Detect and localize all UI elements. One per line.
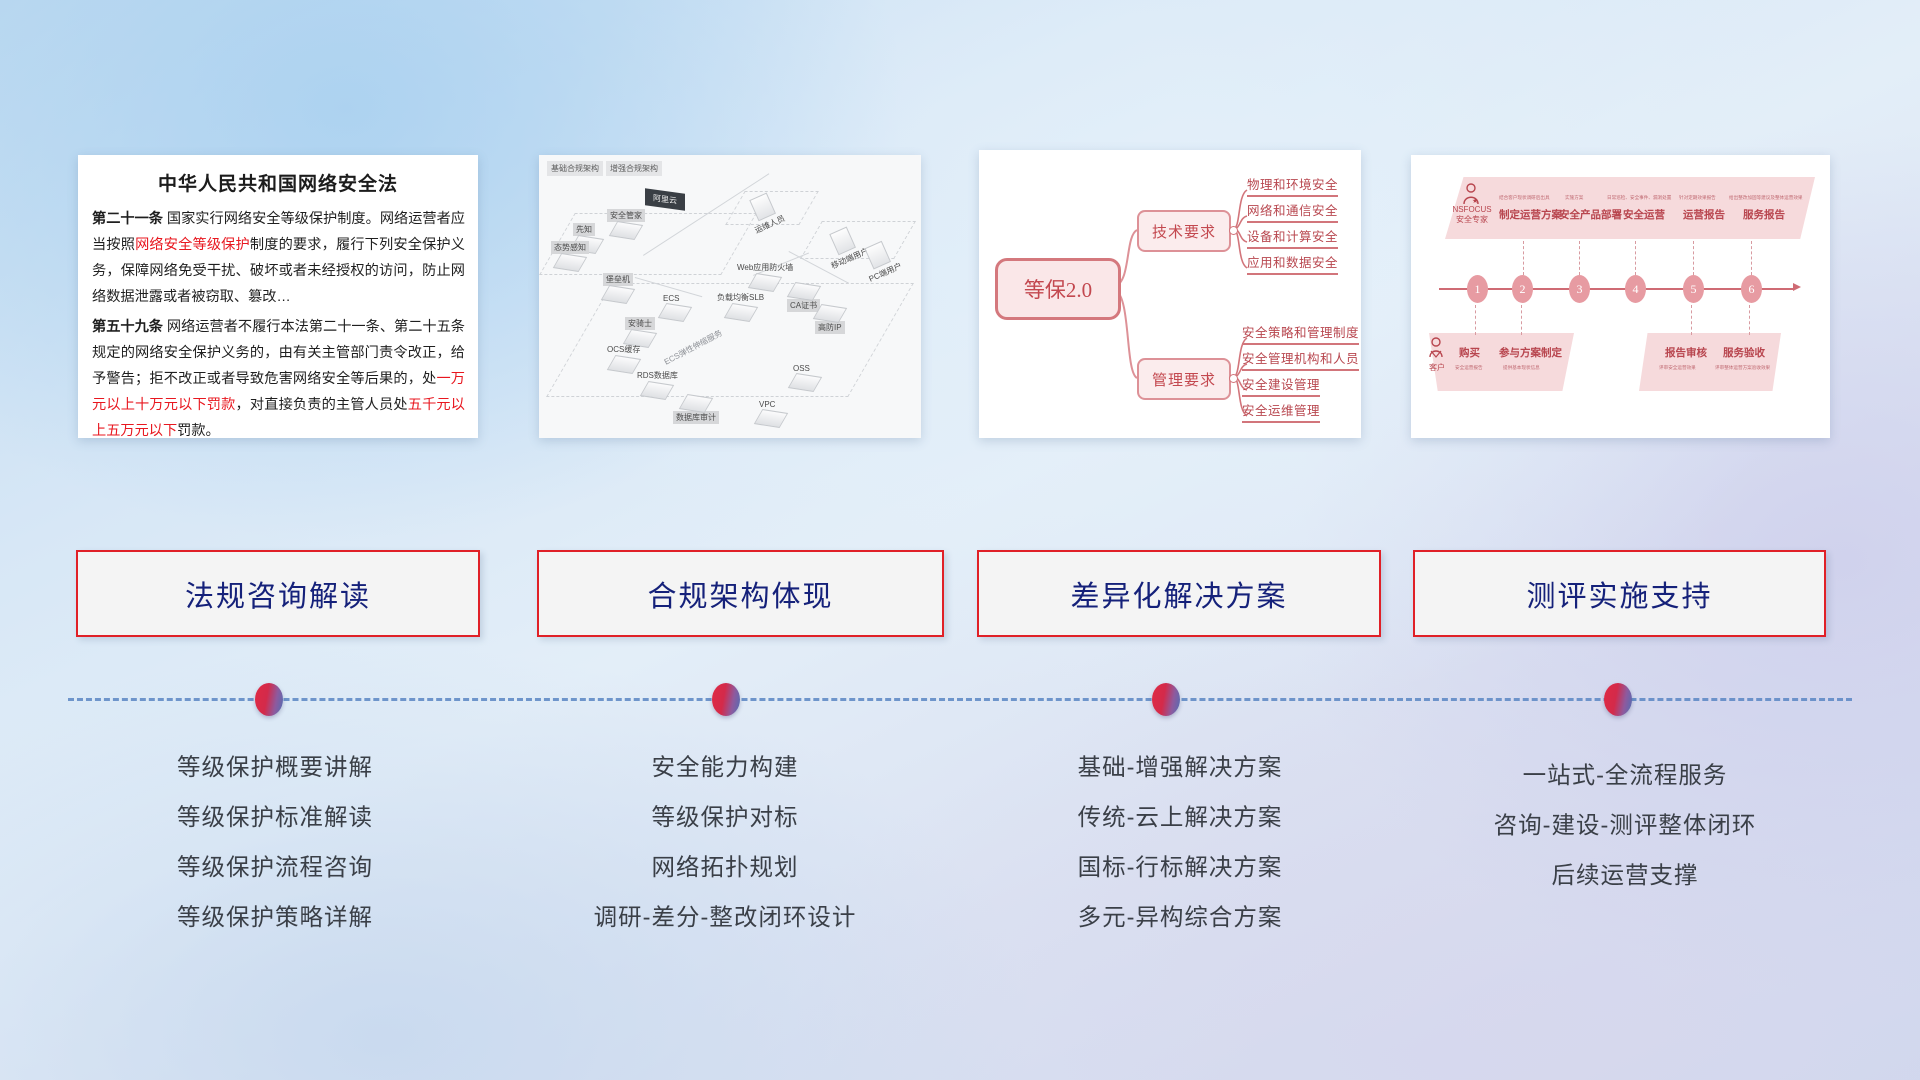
architecture-canvas: 基础合规架构 增强合规架构 阿里云 安全管家 先知 态势感知 xyxy=(539,155,921,438)
law-title: 中华人民共和国网络安全法 xyxy=(78,169,478,196)
mindmap-branch-management[interactable]: 管理要求 xyxy=(1137,358,1231,400)
node-slb: 负载均衡SLB xyxy=(715,291,766,320)
nsfocus-top-title: 安全产品部署 xyxy=(1559,207,1622,222)
architecture-tab-enhanced[interactable]: 增强合规架构 xyxy=(606,161,662,176)
node-oss: OSS xyxy=(791,363,819,390)
node-ocs-cache: OCS缓存 xyxy=(605,343,642,372)
mindmap-leaf: 安全管理机构和人员 xyxy=(1242,348,1359,371)
nsfocus-step[interactable]: 3 xyxy=(1569,275,1590,303)
mindmap-leaf: 设备和计算安全 xyxy=(1247,226,1338,249)
list-item: 调研-差分-整改闭环设计 xyxy=(500,892,950,942)
architecture-cloud-banner: 阿里云 xyxy=(645,188,685,211)
mindmap-leaf: 网络和通信安全 xyxy=(1247,200,1338,223)
mindmap-leaf: 物理和环境安全 xyxy=(1247,174,1338,197)
timeline-dot-4[interactable] xyxy=(1604,683,1632,716)
section-title-label: 合规架构体现 xyxy=(647,573,833,615)
mindmap-leaf: 安全策略和管理制度 xyxy=(1242,322,1359,345)
node-anti-ddos-ip: 高防IP xyxy=(815,305,845,334)
list-item: 基础-增强解决方案 xyxy=(965,742,1395,792)
nsfocus-top-title: 服务报告 xyxy=(1743,207,1785,222)
nsfocus-stem xyxy=(1693,241,1695,275)
nsfocus-customer-band-left xyxy=(1429,333,1574,391)
nsfocus-top-sub: 针对定期效果报告 xyxy=(1679,195,1716,201)
section-item-list-4: 一站式-全流程服务 咨询-建设-测评整体闭环 后续运营支撑 xyxy=(1405,750,1845,900)
nsfocus-customer-band-right xyxy=(1639,333,1781,391)
node-security-butler: 安全管家 xyxy=(607,209,645,238)
node-anqishi: 安骑士 xyxy=(625,317,655,346)
architecture-tab-basic[interactable]: 基础合规架构 xyxy=(547,161,603,176)
law-article-label: 第五十九条 xyxy=(92,319,163,335)
node-ecs: ECS xyxy=(661,293,689,320)
node-bastion-host: 堡垒机 xyxy=(603,273,633,302)
expert-person-icon: ★ xyxy=(1461,183,1481,205)
nsfocus-bottom-title: 报告审核 xyxy=(1665,345,1707,360)
mindmap-leaf: 应用和数据安全 xyxy=(1247,252,1338,275)
nsfocus-canvas: ★ NSFOCUS 安全专家 客户 制定运营方案 结合客户现状调研后出具 安全产… xyxy=(1411,155,1830,438)
nsfocus-stem xyxy=(1475,305,1477,335)
nsfocus-bottom-title: 服务验收 xyxy=(1723,345,1765,360)
list-item: 等级保护流程咨询 xyxy=(60,842,490,892)
node-rds-database: RDS数据库 xyxy=(635,369,680,398)
law-body: 第二十一条 国家实行网络安全等级保护制度。网络运营者应当按照网络安全等级保护制度… xyxy=(78,206,478,438)
slide-canvas: 中华人民共和国网络安全法 第二十一条 国家实行网络安全等级保护制度。网络运营者应… xyxy=(0,0,1920,1080)
list-item: 安全能力构建 xyxy=(500,742,950,792)
nsfocus-expert-role: NSFOCUS 安全专家 xyxy=(1447,205,1497,225)
nsfocus-stem xyxy=(1521,305,1523,335)
mindmap-root-node[interactable]: 等保2.0 xyxy=(995,258,1121,320)
timeline-dot-2[interactable] xyxy=(712,683,740,716)
list-item: 传统-云上解决方案 xyxy=(965,792,1395,842)
nsfocus-top-sub: 结合客户现状调研后出具 xyxy=(1499,195,1550,201)
list-item: 国标-行标解决方案 xyxy=(965,842,1395,892)
list-item: 多元-异构综合方案 xyxy=(965,892,1395,942)
nsfocus-axis-arrow xyxy=(1793,283,1801,291)
list-item: 后续运营支撑 xyxy=(1405,850,1845,900)
svg-text:★: ★ xyxy=(1472,197,1478,205)
section-title-label: 差异化解决方案 xyxy=(1070,573,1287,615)
card-law-text: 中华人民共和国网络安全法 第二十一条 国家实行网络安全等级保护制度。网络运营者应… xyxy=(78,155,478,438)
list-item: 等级保护标准解读 xyxy=(60,792,490,842)
section-title-label: 法规咨询解读 xyxy=(185,573,371,615)
section-item-list-2: 安全能力构建 等级保护对标 网络拓扑规划 调研-差分-整改闭环设计 xyxy=(500,742,950,942)
card-architecture-diagram: 基础合规架构 增强合规架构 阿里云 安全管家 先知 态势感知 xyxy=(539,155,921,438)
list-item: 等级保护策略详解 xyxy=(60,892,490,942)
section-item-list-1: 等级保护概要讲解 等级保护标准解读 等级保护流程咨询 等级保护策略详解 xyxy=(60,742,490,942)
nsfocus-stem xyxy=(1523,241,1525,275)
section-title-label: 测评实施支持 xyxy=(1526,573,1712,615)
timeline-dot-1[interactable] xyxy=(255,683,283,716)
nsfocus-stem xyxy=(1635,241,1637,275)
card-mindmap: 等保2.0 技术要求 物理和环境安全 网络和通信安全 设备和计算安全 应用和数据… xyxy=(979,150,1361,438)
nsfocus-stem xyxy=(1751,241,1753,275)
mindmap-collapse-dot[interactable] xyxy=(1229,374,1238,383)
mindmap-collapse-dot[interactable] xyxy=(1229,226,1238,235)
nsfocus-step[interactable]: 1 xyxy=(1467,275,1488,303)
nsfocus-step[interactable]: 2 xyxy=(1512,275,1533,303)
node-database-audit: 数据库审计 xyxy=(673,395,719,424)
law-paragraph: 第五十九条 网络运营者不履行本法第二十一条、第二十五条规定的网络安全保护义务的，… xyxy=(92,314,465,438)
nsfocus-top-sub: 实施方案 xyxy=(1565,195,1583,201)
node-vpc: VPC xyxy=(757,399,785,426)
nsfocus-stem xyxy=(1749,305,1751,335)
mindmap-canvas: 等保2.0 技术要求 物理和环境安全 网络和通信安全 设备和计算安全 应用和数据… xyxy=(979,150,1361,438)
timeline-dashed-line xyxy=(68,698,1852,701)
mindmap-leaf: 安全建设管理 xyxy=(1242,374,1320,397)
section-title-box-1[interactable]: 法规咨询解读 xyxy=(76,550,480,637)
list-item: 等级保护对标 xyxy=(500,792,950,842)
law-seg: 罚款。 xyxy=(177,423,220,438)
nsfocus-top-title: 安全运营 xyxy=(1623,207,1665,222)
nsfocus-top-sub: 给出整改加固等建议及整体运营效果 xyxy=(1729,195,1803,201)
section-item-list-3: 基础-增强解决方案 传统-云上解决方案 国标-行标解决方案 多元-异构综合方案 xyxy=(965,742,1395,942)
law-seg: ，对直接负责的主管人员处 xyxy=(236,397,408,413)
mindmap-leaf: 安全运维管理 xyxy=(1242,400,1320,423)
section-title-box-4[interactable]: 测评实施支持 xyxy=(1413,550,1826,637)
card-nsfocus-timeline: ★ NSFOCUS 安全专家 客户 制定运营方案 结合客户现状调研后出具 安全产… xyxy=(1411,155,1830,438)
law-paragraph: 第二十一条 国家实行网络安全等级保护制度。网络运营者应当按照网络安全等级保护制度… xyxy=(92,206,465,310)
nsfocus-step[interactable]: 6 xyxy=(1741,275,1762,303)
nsfocus-bottom-sub: 提供基本现状信息 xyxy=(1503,365,1540,371)
node-situation-awareness: 态势感知 xyxy=(551,241,589,270)
section-title-box-3[interactable]: 差异化解决方案 xyxy=(977,550,1381,637)
nsfocus-bottom-title: 购买 xyxy=(1459,345,1480,360)
nsfocus-bottom-sub: 评审安全运营效果 xyxy=(1659,365,1696,371)
nsfocus-bottom-sub: 安全运营报告 xyxy=(1455,365,1483,371)
nsfocus-top-title: 制定运营方案 xyxy=(1499,207,1562,222)
nsfocus-top-title: 运营报告 xyxy=(1683,207,1725,222)
nsfocus-customer-role: 客户 xyxy=(1421,363,1453,373)
nsfocus-stem xyxy=(1579,241,1581,275)
mindmap-branch-technical[interactable]: 技术要求 xyxy=(1137,210,1231,252)
nsfocus-stem xyxy=(1691,305,1693,335)
nsfocus-step[interactable]: 5 xyxy=(1683,275,1704,303)
list-item: 网络拓扑规划 xyxy=(500,842,950,892)
timeline-dot-3[interactable] xyxy=(1152,683,1180,716)
customer-person-icon xyxy=(1427,337,1445,363)
law-article-label: 第二十一条 xyxy=(92,211,163,227)
nsfocus-step[interactable]: 4 xyxy=(1625,275,1646,303)
nsfocus-top-sub: 日常巡检、安全事件、漏洞处置 xyxy=(1607,195,1671,201)
list-item: 咨询-建设-测评整体闭环 xyxy=(1405,800,1845,850)
nsfocus-bottom-title: 参与方案制定 xyxy=(1499,345,1562,360)
architecture-tabs: 基础合规架构 增强合规架构 xyxy=(547,161,662,176)
law-seg-highlight: 网络安全等级保护 xyxy=(135,237,250,253)
section-title-box-2[interactable]: 合规架构体现 xyxy=(537,550,944,637)
list-item: 一站式-全流程服务 xyxy=(1405,750,1845,800)
list-item: 等级保护概要讲解 xyxy=(60,742,490,792)
nsfocus-bottom-sub: 评审整体运营方案验收效果 xyxy=(1715,365,1770,371)
